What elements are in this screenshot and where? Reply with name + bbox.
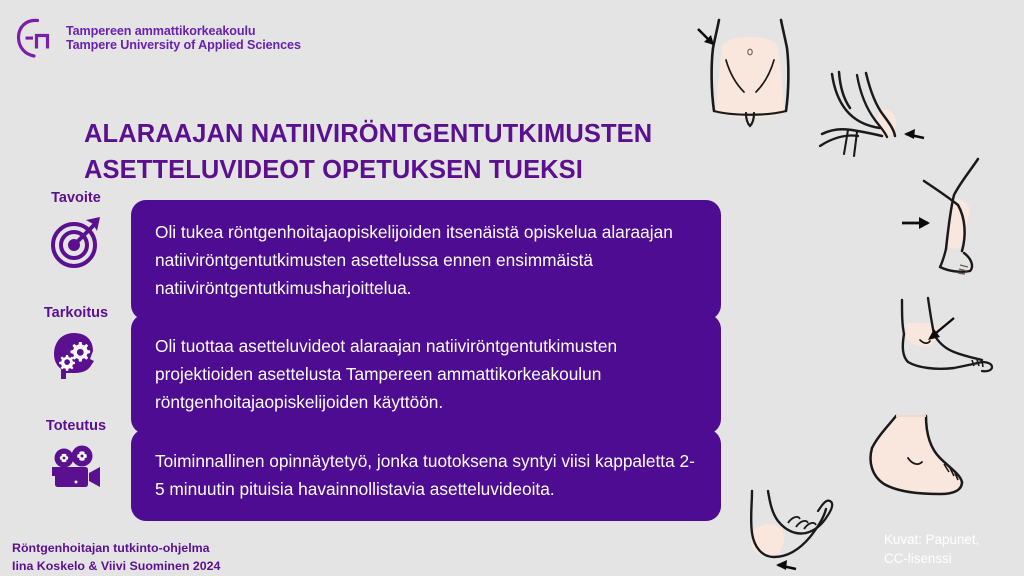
- pelvis-hip-illustration: [686, 12, 814, 134]
- page-title: ALARAAJAN NATIIVIRÖNTGENTUTKIMUSTEN ASET…: [84, 116, 704, 188]
- bubble-toteutus: Toiminnallinen opinnäytetyö, jonka tuoto…: [131, 429, 721, 521]
- image-credit: Kuvat: Papunet, CC-lisenssi: [884, 531, 979, 568]
- footer-credits: Röntgenhoitajan tutkinto-ohjelma Iina Ko…: [12, 540, 220, 575]
- footer-line-1: Röntgenhoitajan tutkinto-ohjelma: [12, 540, 220, 558]
- head-gears-icon: [48, 327, 106, 385]
- page-title-line-1: ALARAAJAN NATIIVIRÖNTGENTUTKIMUSTEN: [84, 116, 704, 152]
- slide-root: Tampereen ammattikorkeakoulu Tampere Uni…: [0, 0, 1024, 576]
- logo-line-fi: Tampereen ammattikorkeakoulu: [66, 24, 301, 38]
- footer-line-2: Iina Koskelo & Viivi Suominen 2024: [12, 558, 220, 576]
- foot-illustration: [852, 410, 976, 520]
- image-credit-line-2: CC-lisenssi: [884, 550, 979, 569]
- bubble-tavoite: Oli tukea röntgenhoitajaopiskelijoiden i…: [131, 200, 721, 320]
- image-credit-line-1: Kuvat: Papunet,: [884, 531, 979, 550]
- target-icon: [48, 212, 106, 270]
- movie-camera-icon: [48, 440, 106, 498]
- heel-illustration: [744, 485, 854, 576]
- section-label-tavoite: Tavoite: [22, 190, 130, 206]
- tamk-logo-mark: [14, 16, 58, 60]
- ankle-illustration: [880, 296, 1000, 394]
- tamk-logo: Tampereen ammattikorkeakoulu Tampere Uni…: [14, 16, 301, 60]
- section-label-tarkoitus: Tarkoitus: [22, 305, 130, 321]
- page-title-line-2: ASETTELUVIDEOT OPETUKSEN TUEKSI: [84, 152, 704, 188]
- section-label-toteutus: Toteutus: [22, 418, 130, 434]
- bubble-text-tavoite: Oli tukea röntgenhoitajaopiskelijoiden i…: [155, 218, 699, 302]
- tamk-logo-text: Tampereen ammattikorkeakoulu Tampere Uni…: [66, 24, 301, 53]
- bubble-tarkoitus: Oli tuottaa asetteluvideot alaraajan nat…: [131, 314, 721, 434]
- bubble-text-toteutus: Toiminnallinen opinnäytetyö, jonka tuoto…: [155, 447, 699, 503]
- bubble-text-tarkoitus: Oli tuottaa asetteluvideot alaraajan nat…: [155, 332, 699, 416]
- lower-leg-illustration: [898, 155, 994, 279]
- logo-line-en: Tampere University of Applied Sciences: [66, 38, 301, 52]
